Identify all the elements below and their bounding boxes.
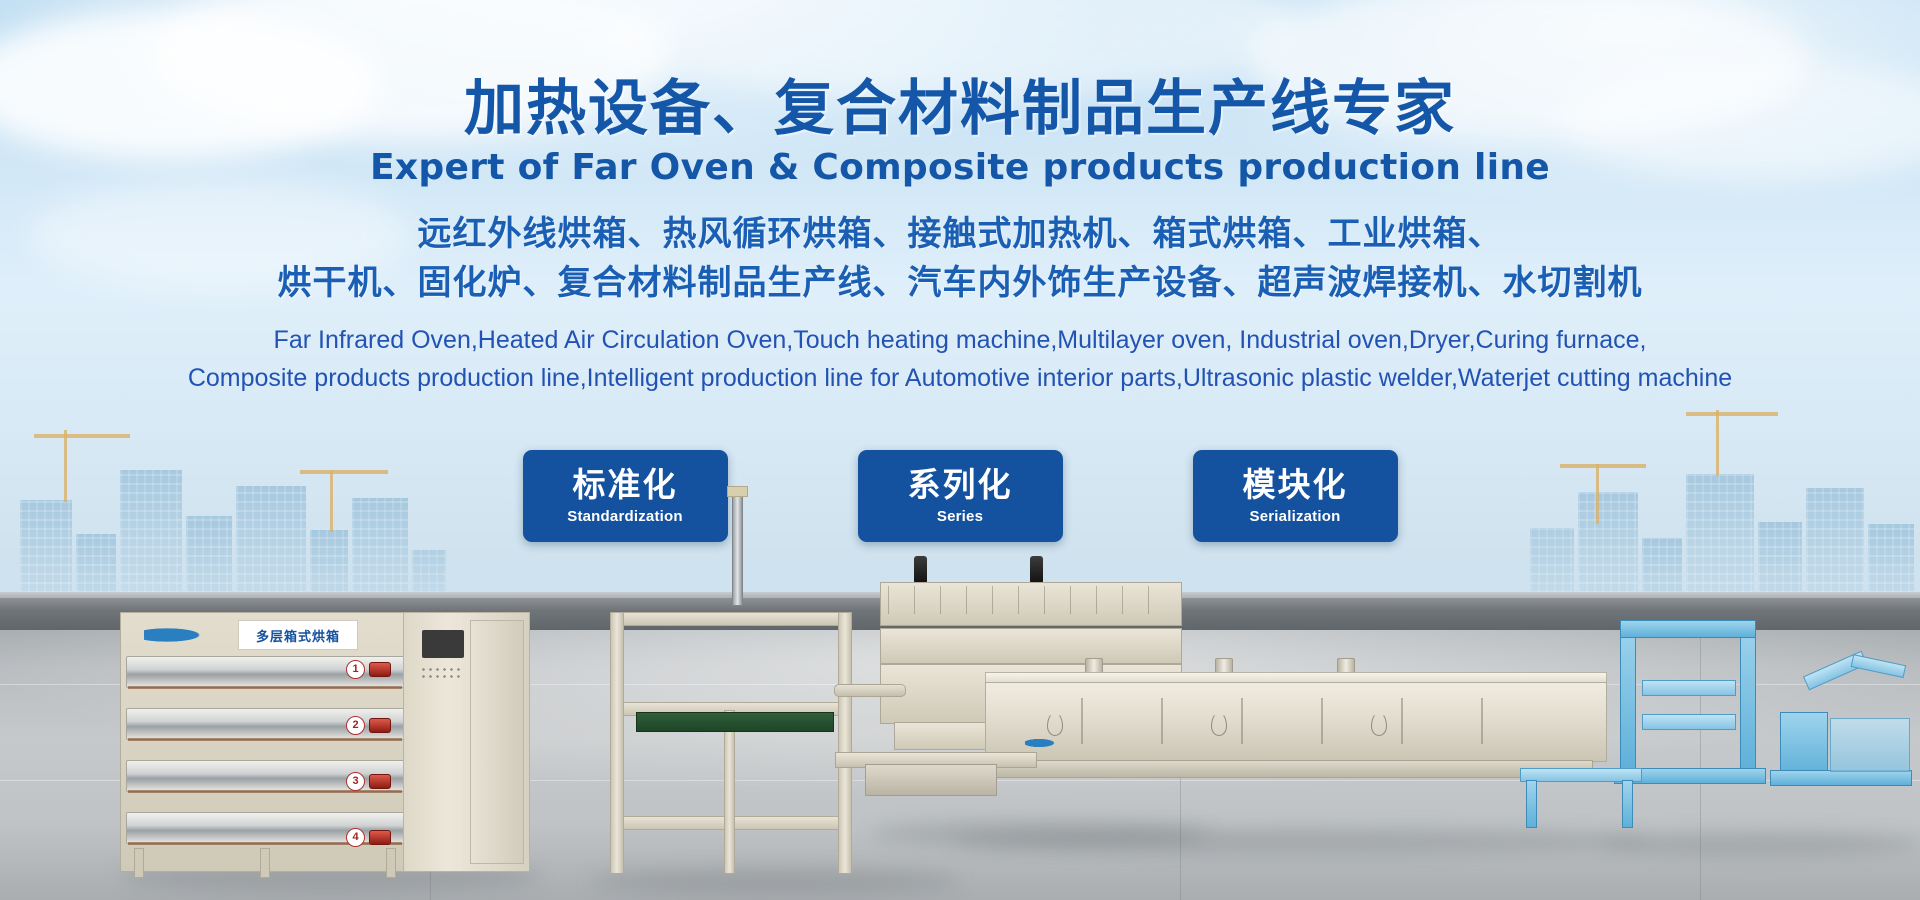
hero-text-block: 加热设备、复合材料制品生产线专家 Expert of Far Oven & Co… [0, 0, 1920, 398]
frame-post [610, 612, 624, 874]
panel-seam [1481, 698, 1483, 744]
panel-seam [1081, 698, 1083, 744]
panel-seam [1161, 698, 1163, 744]
indicator-number: 4 [346, 828, 365, 847]
tunnel-oven-body [985, 682, 1607, 762]
construction-crane [34, 434, 130, 438]
conveyor-leg [1526, 780, 1537, 828]
frame-post [838, 612, 852, 874]
cell-frame-post [1740, 620, 1756, 772]
press-piston [1030, 556, 1043, 584]
product-list-en-line2: Composite products production line,Intel… [0, 359, 1920, 398]
badge-label-en: Series [937, 508, 983, 525]
machine-multilayer-box-oven: 多层箱式烘箱 1 2 3 4 [120, 612, 530, 880]
badge-label-zh: 标准化 [573, 467, 678, 503]
oven-shelf-edge [128, 686, 402, 689]
tunnel-oven-base [991, 760, 1593, 778]
oven-name-plate: 多层箱式烘箱 [238, 620, 358, 650]
feature-badge-row: 标准化 Standardization 系列化 Series 模块化 Seria… [0, 450, 1920, 542]
indicator-number: 3 [346, 772, 365, 791]
page-subtitle-en: Expert of Far Oven & Composite products … [0, 147, 1920, 188]
banner-stage: 加热设备、复合材料制品生产线专家 Expert of Far Oven & Co… [0, 0, 1920, 900]
inspection-hatch-icon[interactable] [1211, 712, 1227, 736]
badge-label-en: Standardization [567, 508, 683, 525]
page-title: 加热设备、复合材料制品生产线专家 [0, 78, 1920, 141]
hmi-screen[interactable] [422, 630, 464, 658]
indicator-4[interactable]: 4 [346, 826, 402, 848]
frame-top-beam [610, 612, 852, 626]
brand-logo-icon [144, 624, 220, 646]
oven-shelf-edge [128, 738, 402, 741]
brand-logo-icon [1025, 736, 1065, 750]
cell-frame-top-beam [1620, 620, 1756, 638]
indicator-number: 1 [346, 660, 365, 679]
indicator-lamp-icon [369, 830, 391, 845]
cell-fence [1830, 718, 1910, 772]
panel-seam [1241, 698, 1243, 744]
oven-leg [134, 848, 144, 878]
hydraulic-duct [834, 684, 906, 697]
machine-transfer-conveyor [1520, 750, 1650, 830]
frame-post [724, 710, 735, 874]
infeed-tray [865, 764, 997, 796]
indicator-lamp-icon [369, 774, 391, 789]
cell-platform [1642, 680, 1736, 696]
press-piston [914, 556, 927, 584]
badge-series[interactable]: 系列化 Series [858, 450, 1063, 542]
robot-arm-base [1780, 712, 1828, 776]
indicator-number: 2 [346, 716, 365, 735]
construction-crane [1686, 412, 1778, 416]
oven-leg [386, 848, 396, 878]
oven-leg [260, 848, 270, 878]
conveyor-leg [1622, 780, 1633, 828]
badge-standardization[interactable]: 标准化 Standardization [523, 450, 728, 542]
badge-serialization[interactable]: 模块化 Serialization [1193, 450, 1398, 542]
badge-label-zh: 系列化 [908, 467, 1013, 503]
press-lower-platen [880, 628, 1182, 664]
panel-seam [1401, 698, 1403, 744]
vent-grille-icon [420, 666, 464, 682]
indicator-2[interactable]: 2 [346, 714, 402, 736]
badge-label-en: Serialization [1250, 508, 1341, 525]
indicator-1[interactable]: 1 [346, 658, 402, 680]
product-list-zh-line1: 远红外线烘箱、热风循环烘箱、接触式加热机、箱式烘箱、工业烘箱、 [0, 210, 1920, 259]
cell-platform [1642, 714, 1736, 730]
product-list-en-line1: Far Infrared Oven,Heated Air Circulation… [0, 321, 1920, 360]
indicator-3[interactable]: 3 [346, 770, 402, 792]
guide-mast [732, 492, 743, 606]
green-conveyor-belt [636, 712, 834, 732]
robot-arm-link [1851, 654, 1907, 678]
press-grid-top [888, 586, 1172, 614]
product-list-zh-line2: 烘干机、固化炉、复合材料制品生产线、汽车内外饰生产设备、超声波焊接机、水切割机 [0, 259, 1920, 308]
indicator-lamp-icon [369, 662, 391, 677]
inspection-hatch-icon[interactable] [1047, 712, 1063, 736]
inspection-hatch-icon[interactable] [1371, 712, 1387, 736]
cabinet-door[interactable] [470, 620, 524, 864]
mast-cap [727, 486, 748, 497]
cell-base [1770, 770, 1912, 786]
panel-seam [1321, 698, 1323, 744]
indicator-lamp-icon [369, 718, 391, 733]
machine-robotic-cell [1620, 620, 1920, 850]
badge-label-zh: 模块化 [1243, 467, 1348, 503]
